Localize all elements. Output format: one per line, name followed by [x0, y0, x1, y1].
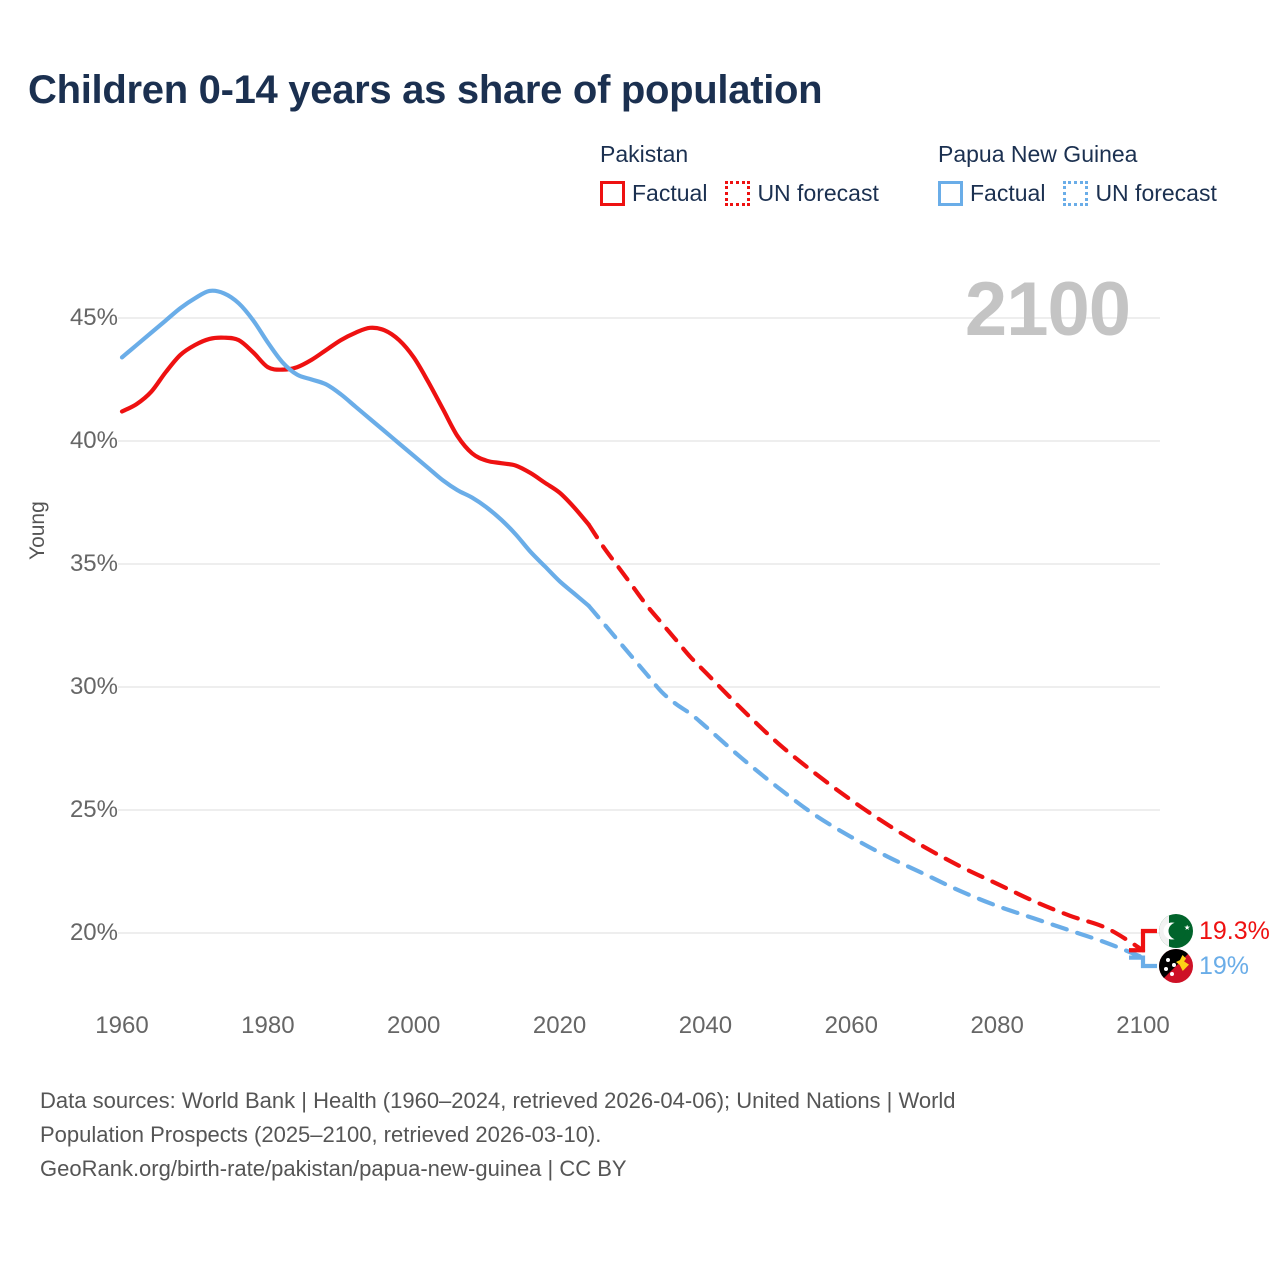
x-axis-tick-label: 2020	[533, 1012, 586, 1040]
end-value: 19%	[1199, 952, 1249, 981]
end-value: 19.3%	[1199, 917, 1270, 946]
x-axis-tick-label: 1980	[241, 1012, 294, 1040]
end-label-papua-new-guinea: 19%	[1159, 949, 1249, 983]
series-leader-line	[1129, 958, 1157, 966]
series-line-forecast	[589, 606, 1143, 958]
series-leader-lines	[1129, 931, 1157, 966]
x-axis-tick-label: 2040	[679, 1012, 732, 1040]
y-axis-tick-label: 20%	[70, 919, 118, 947]
footer-line-1: Data sources: World Bank | Health (1960–…	[40, 1084, 1220, 1118]
series-line-factual	[122, 291, 589, 606]
series-lines	[122, 291, 1143, 958]
y-axis-label: Young	[26, 501, 50, 560]
series-leader-line	[1129, 931, 1157, 950]
y-axis-tick-label: 30%	[70, 673, 118, 701]
y-axis-tick-label: 25%	[70, 796, 118, 824]
footer-sources: Data sources: World Bank | Health (1960–…	[40, 1084, 1220, 1186]
gridlines	[118, 318, 1160, 933]
footer-line-3: GeoRank.org/birth-rate/pakistan/papua-ne…	[40, 1152, 1220, 1186]
footer-line-2: Population Prospects (2025–2100, retriev…	[40, 1118, 1220, 1152]
papua-new-guinea-flag-icon	[1159, 949, 1193, 983]
year-watermark: 2100	[965, 272, 1130, 348]
x-axis-tick-label: 1960	[95, 1012, 148, 1040]
end-label-pakistan: 19.3%	[1159, 914, 1270, 948]
chart-root: Children 0-14 years as share of populati…	[0, 0, 1280, 1280]
x-axis-tick-label: 2100	[1116, 1012, 1169, 1040]
y-axis-tick-label: 45%	[70, 304, 118, 332]
x-axis-tick-label: 2080	[970, 1012, 1023, 1040]
x-axis-tick-label: 2060	[825, 1012, 878, 1040]
series-line-factual	[122, 328, 589, 525]
y-axis-tick-label: 35%	[70, 550, 118, 578]
x-axis-tick-label: 2000	[387, 1012, 440, 1040]
series-line-forecast	[589, 525, 1143, 951]
pakistan-flag-icon	[1159, 914, 1193, 948]
y-axis-tick-label: 40%	[70, 427, 118, 455]
